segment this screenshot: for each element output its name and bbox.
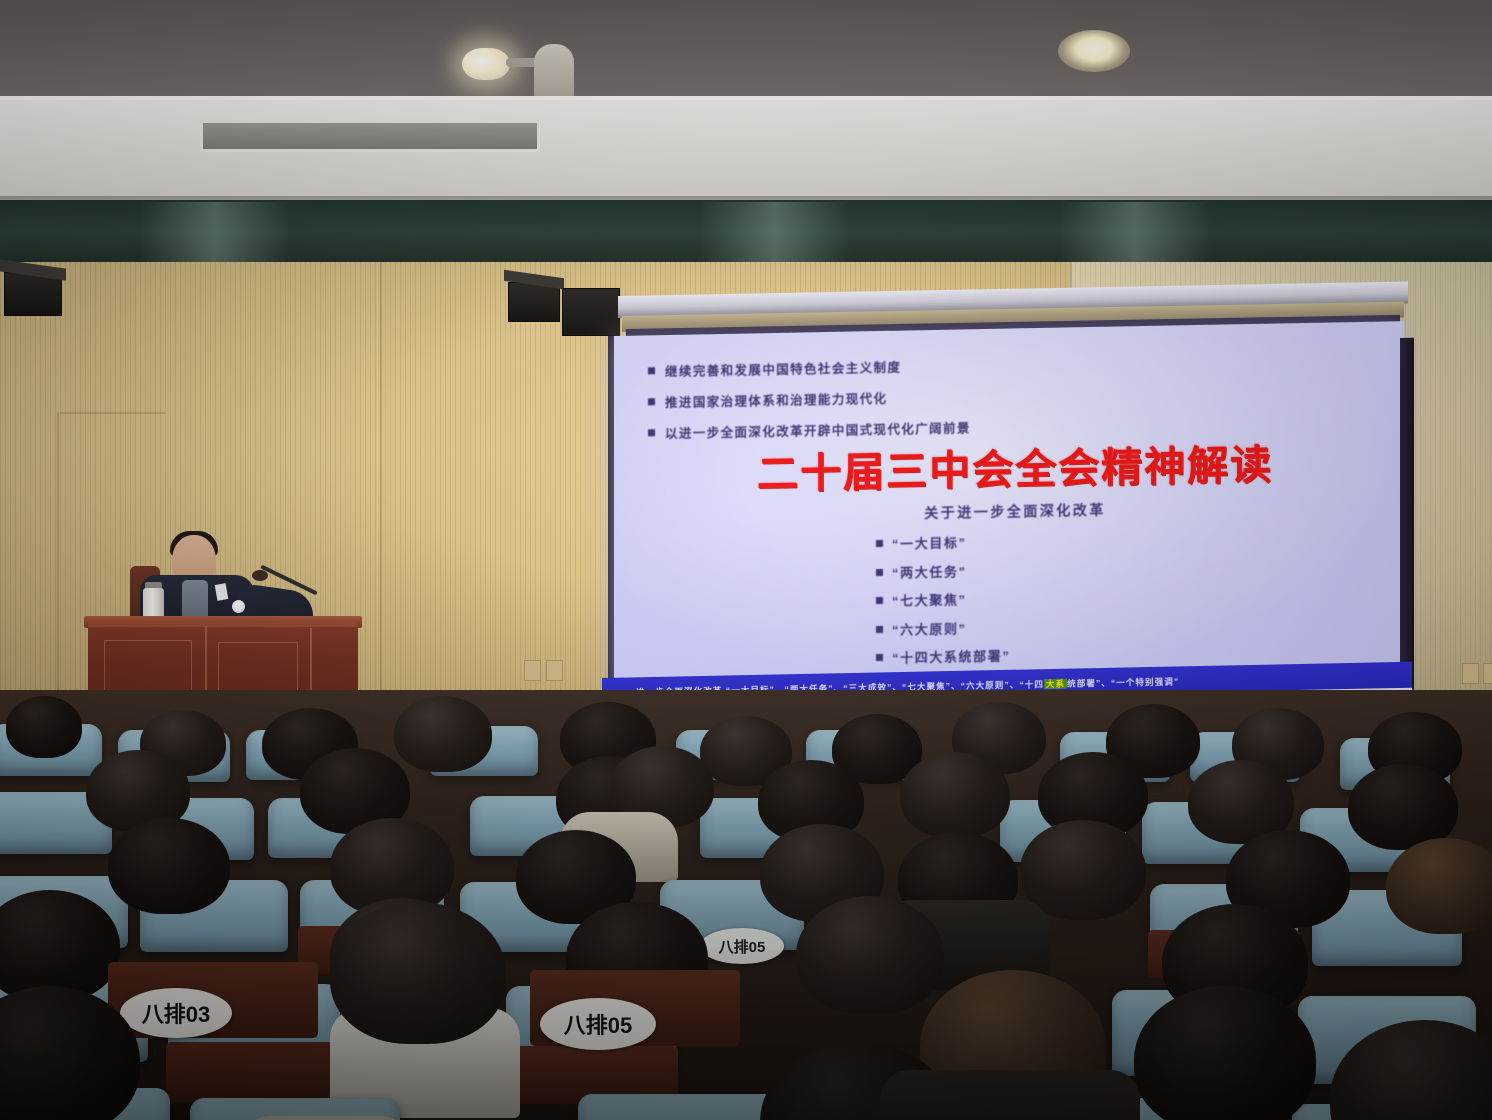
wall-outlet [1462, 663, 1479, 684]
seat-label-tag: 八排05 [540, 998, 656, 1050]
ceiling-band-sheen [700, 202, 850, 268]
audience-area: 五排01 八排05 [0, 690, 1492, 1120]
slide-top-bullet-text: 以进一步全面深化改革开辟中国式现代化广阔前景 [665, 417, 971, 442]
audience-shoulders [880, 1070, 1140, 1120]
ceiling-band-sheen [140, 202, 290, 268]
slide-top-bullet-row: 推进国家治理体系和治理能力现代化 [648, 379, 1382, 412]
ceiling-upper-slab [0, 0, 1492, 102]
slide-top-bullet-row: 以进一步全面深化改革开辟中国式现代化广阔前景 [648, 410, 1382, 443]
ceiling-downlight [1058, 30, 1130, 72]
seat-label-text: 八排05 [719, 936, 766, 957]
air-vent-grille [200, 120, 540, 152]
seat-label-text: 八排05 [564, 1008, 632, 1040]
bullet-square-icon [648, 429, 655, 436]
ticker-suffix: 统部署”、“一个特别强调” [1067, 676, 1179, 688]
slide-list-item: “十四大系统部署” [876, 639, 1382, 668]
audience-head [394, 696, 492, 772]
wall-outlet [1483, 663, 1492, 684]
slide-list-item-text: “两大任务” [892, 561, 967, 581]
seat-back-wood [166, 1042, 342, 1102]
bullet-square-icon [648, 398, 655, 405]
audience-head [108, 818, 230, 914]
projection-screen-assembly: 继续完善和发展中国特色社会主义制度 推进国家治理体系和治理能力现代化 以进一步全… [600, 296, 1416, 726]
slide-list-item: “一大目标” [876, 525, 1382, 554]
audience-shoulders [240, 1116, 410, 1120]
slide-subtitle: 关于进一步全面深化改革 [648, 495, 1382, 529]
seat [578, 1094, 786, 1120]
presenter-button-pin [232, 600, 245, 613]
audience-head [330, 902, 506, 1044]
microphone-head-icon [252, 570, 268, 581]
seat-label-tag: 八排05 [700, 928, 784, 964]
audience-head [796, 896, 944, 1014]
slide-list-item: “七大聚焦” [876, 582, 1382, 611]
ceiling-band-sheen [1060, 202, 1210, 268]
seat-label-tag: 八排03 [120, 988, 232, 1038]
audience-head [900, 752, 1010, 838]
wall-outlet [546, 660, 563, 681]
slide-list-item-text: “十四大系统部署” [892, 646, 1010, 667]
wall-outlet [524, 660, 541, 681]
wall-speaker-right [508, 282, 560, 322]
slide-list-item: “两大任务” [876, 553, 1382, 582]
slide-list-item: “六大原则” [876, 610, 1382, 639]
slide-top-bullet-text: 继续完善和发展中国特色社会主义制度 [665, 357, 901, 380]
auditorium-photo: 继续完善和发展中国特色社会主义制度 推进国家治理体系和治理能力现代化 以进一步全… [0, 0, 1492, 1120]
bullet-square-icon [648, 367, 655, 374]
audience-head [1134, 986, 1316, 1120]
bullet-square-icon [876, 597, 883, 604]
ticker-highlight: 大系 [1044, 679, 1067, 689]
bullet-square-icon [876, 568, 883, 575]
slide-top-bullet-text: 推进国家治理体系和治理能力现代化 [665, 388, 887, 411]
audience-head [1386, 838, 1492, 934]
audience-head [1020, 820, 1146, 920]
bullet-square-icon [876, 654, 883, 661]
slide-top-bullets: 继续完善和发展中国特色社会主义制度 推进国家治理体系和治理能力现代化 以进一步全… [648, 348, 1382, 443]
projection-screen: 继续完善和发展中国特色社会主义制度 推进国家治理体系和治理能力现代化 以进一步全… [614, 321, 1404, 694]
slide-title: 二十届三中会全会精神解读 [648, 443, 1382, 498]
screen-right-edge [1400, 338, 1414, 690]
seat-label-text: 八排03 [142, 997, 210, 1029]
spotlight-head-icon [462, 48, 510, 80]
slide-top-bullet-row: 继续完善和发展中国特色社会主义制度 [648, 348, 1382, 381]
slide-list-item-text: “七大聚焦” [892, 589, 967, 609]
bullet-square-icon [876, 540, 883, 547]
slide-list-item-text: “六大原则” [892, 618, 967, 638]
bullet-square-icon [876, 625, 883, 632]
slide-list-item-text: “一大目标” [892, 532, 967, 552]
presentation-slide: 继续完善和发展中国特色社会主义制度 推进国家治理体系和治理能力现代化 以进一步全… [614, 321, 1404, 694]
audience-head [6, 696, 82, 758]
